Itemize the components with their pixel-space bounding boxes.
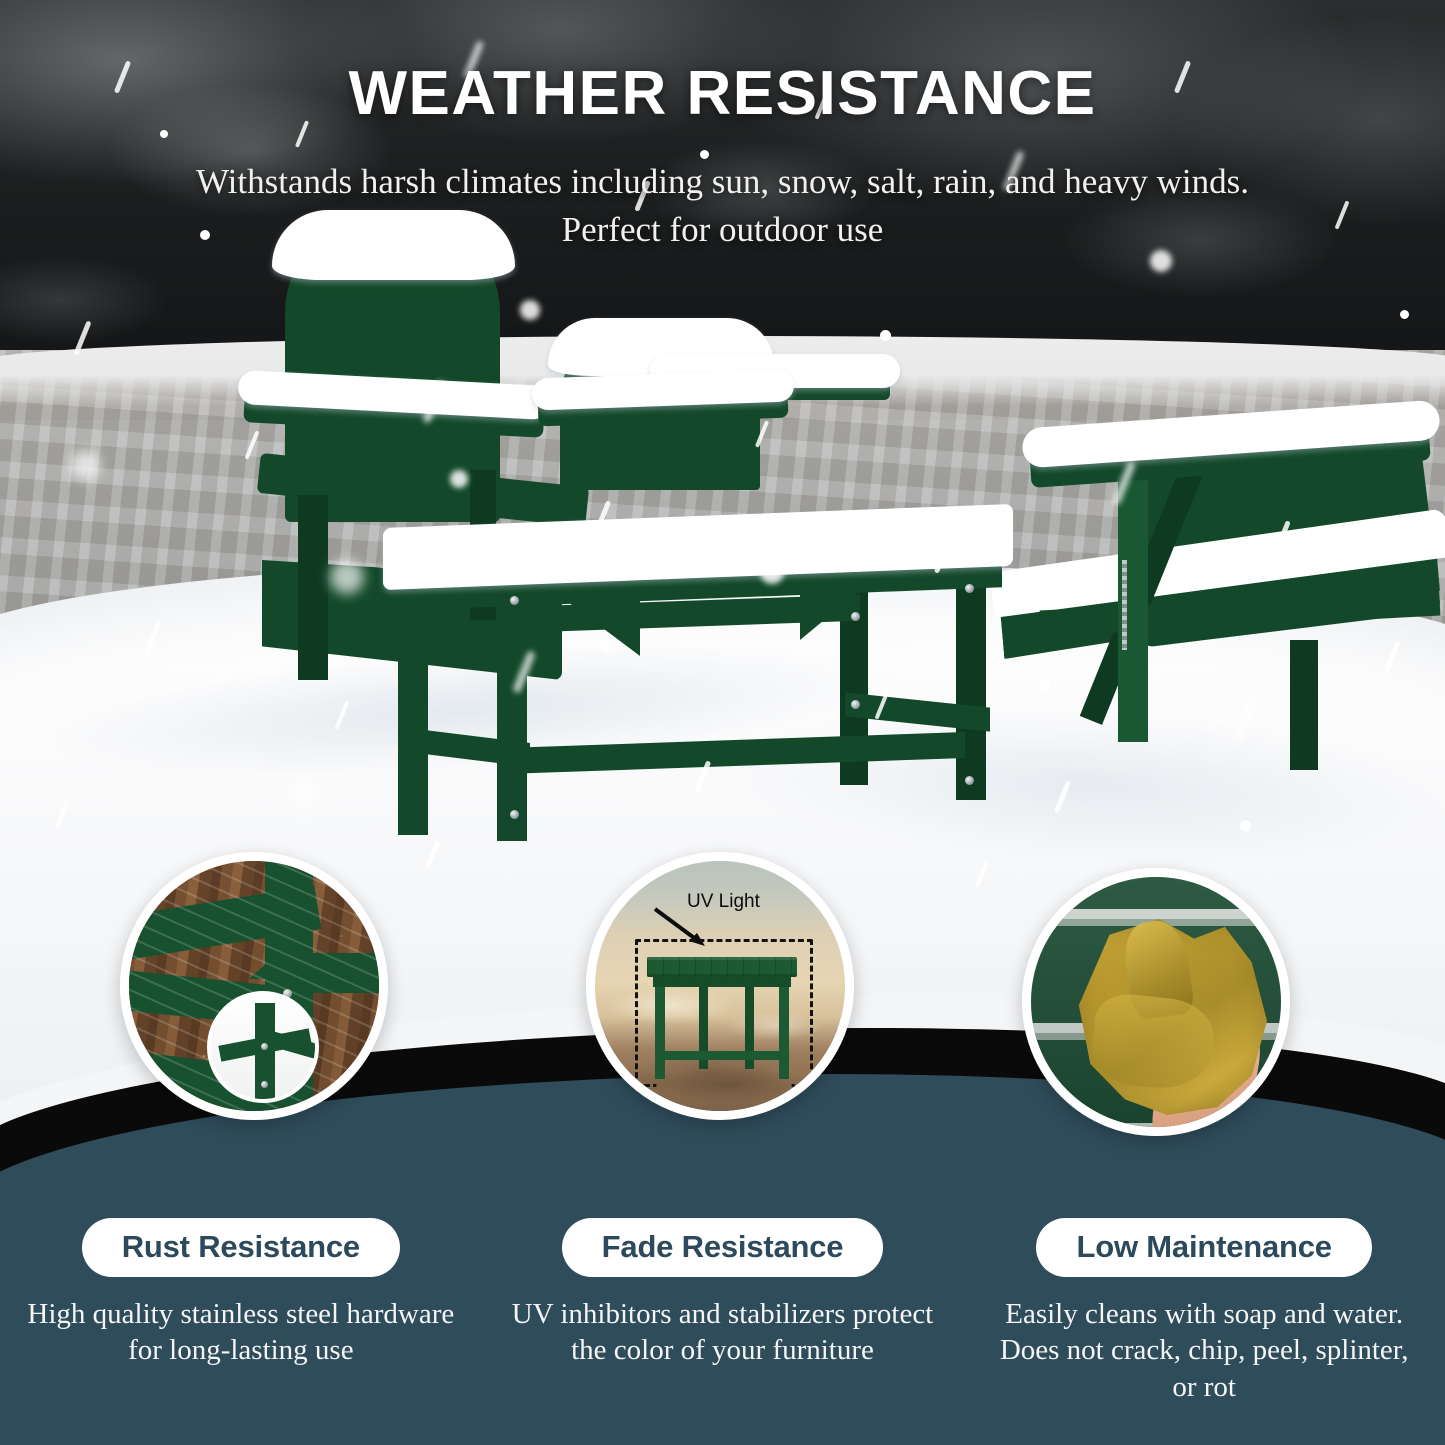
badge-rust-resistance: Rust Resistance: [82, 1218, 400, 1277]
table-stretcher: [655, 1051, 789, 1060]
table-screw: [851, 700, 860, 709]
right-chair-leg: [1290, 640, 1318, 770]
feature-card-rust: Rust Resistance High quality stainless s…: [0, 1218, 482, 1438]
feature-card-maintenance: Low Maintenance Easily cleans with soap …: [963, 1218, 1445, 1438]
left-chair-front-leg: [298, 495, 328, 680]
feature-cards: Rust Resistance High quality stainless s…: [0, 1218, 1445, 1438]
badge-fade-resistance: Fade Resistance: [562, 1218, 884, 1277]
low-maintenance-photo: [1022, 868, 1290, 1136]
fade-resistance-photo: UV Light: [586, 852, 854, 1120]
table-front-leg-right: [779, 983, 789, 1079]
inset-stainless-screw: [261, 1043, 268, 1050]
table-front-right-leg: [497, 596, 527, 841]
description-fade-resistance: UV inhibitors and stabilizers protect th…: [504, 1296, 942, 1369]
rust-resistance-inset-photo: [207, 991, 319, 1103]
rust-resistance-photo: [120, 852, 388, 1120]
table-screw: [510, 810, 519, 819]
table-screw: [510, 596, 519, 605]
description-low-maintenance: Easily cleans with soap and water. Does …: [985, 1296, 1423, 1405]
uv-light-arrow-icon: [653, 907, 715, 953]
weather-resistance-infographic: WEATHER RESISTANCE Withstands harsh clim…: [0, 0, 1445, 1445]
table-screw: [965, 776, 974, 785]
table-screw: [851, 612, 860, 621]
inset-green-leg: [255, 1003, 275, 1103]
table-screw: [965, 584, 974, 593]
table-front-left-leg: [398, 580, 428, 835]
badge-low-maintenance: Low Maintenance: [1036, 1218, 1371, 1277]
page-subtitle: Withstands harsh climates including sun,…: [190, 158, 1255, 255]
right-chair-chain: [1122, 560, 1127, 650]
page-title: WEATHER RESISTANCE: [0, 58, 1445, 129]
table-back-right-leg: [956, 570, 986, 800]
feature-card-fade: Fade Resistance UV inhibitors and stabil…: [482, 1218, 964, 1438]
description-rust-resistance: High quality stainless steel hardware fo…: [22, 1296, 460, 1369]
table-front-leg-left: [655, 983, 665, 1079]
inset-stainless-screw: [261, 1081, 268, 1088]
uv-light-label: UV Light: [687, 891, 760, 913]
